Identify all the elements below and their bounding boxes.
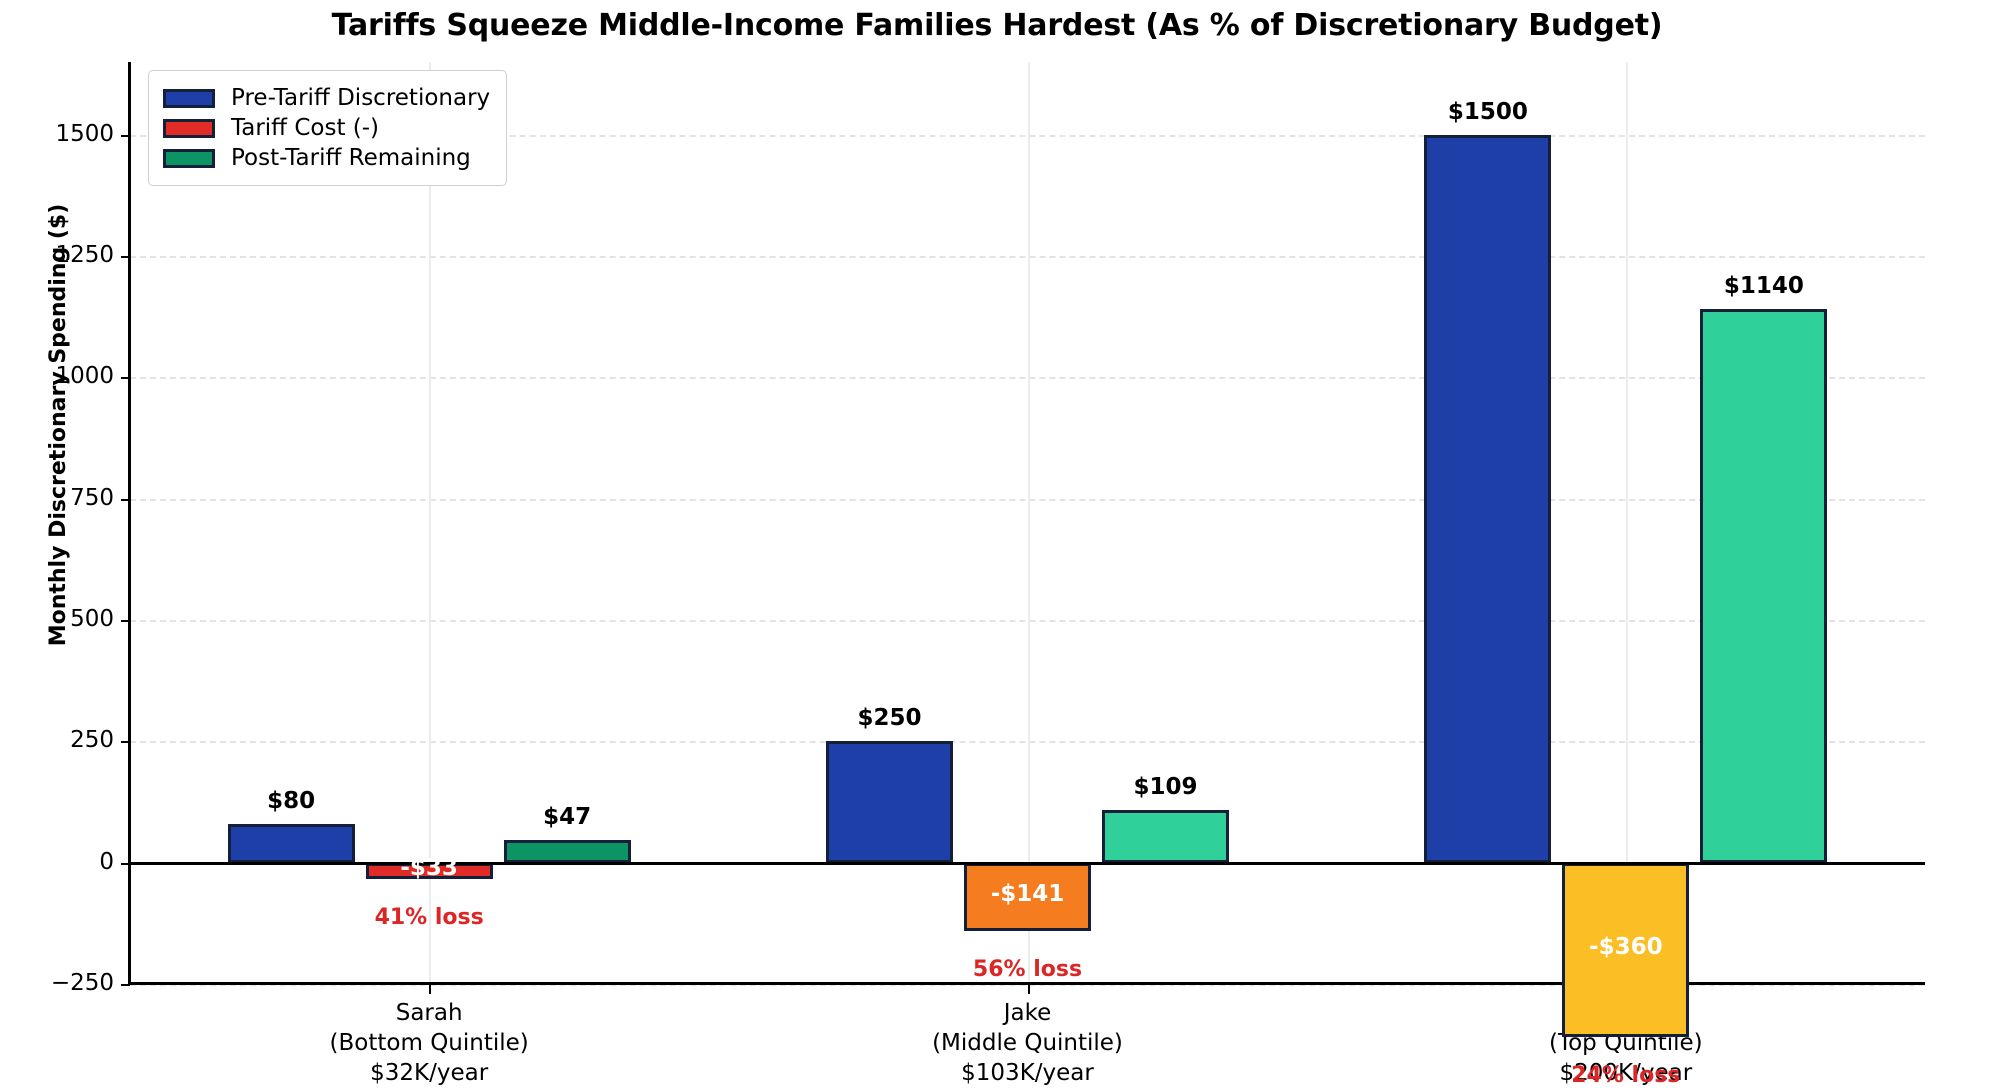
bar-post-tariff-remaining-sarah[interactable] (504, 840, 631, 863)
x-tick-mark (1028, 984, 1030, 994)
legend-label-pre-tariff: Pre-Tariff Discretionary (231, 85, 490, 111)
bar-value-label: -$141 (964, 881, 1091, 907)
y-tick-label: 250 (4, 727, 114, 753)
x-tick-label-jake: Jake (Middle Quintile) $103K/year (828, 998, 1228, 1088)
y-axis-label: Monthly Discretionary Spending ($) (46, 75, 71, 775)
chart-title: Tariffs Squeeze Middle-Income Families H… (0, 8, 1994, 43)
bar-value-label: $250 (826, 705, 953, 731)
bar-post-tariff-remaining-jake[interactable] (1102, 810, 1229, 863)
y-tick-label: 500 (4, 606, 114, 632)
bar-value-label: $109 (1102, 774, 1229, 800)
legend-item-post-tariff: Post-Tariff Remaining (163, 143, 490, 173)
y-tick-label: 0 (4, 849, 114, 875)
legend-swatch-post-tariff (163, 149, 215, 168)
bar-value-label: -$360 (1562, 934, 1689, 960)
loss-annotation: 41% loss (366, 905, 493, 930)
legend-label-post-tariff: Post-Tariff Remaining (231, 145, 471, 171)
y-axis-spine (128, 62, 131, 984)
y-tick-label: 1250 (4, 242, 114, 268)
bar-pre-tariff-discretionary-michelle[interactable] (1424, 135, 1551, 863)
legend-swatch-tariff-cost (163, 119, 215, 138)
bar-value-label: $1140 (1700, 273, 1827, 299)
legend-label-tariff-cost: Tariff Cost (-) (231, 115, 379, 141)
bar-pre-tariff-discretionary-sarah[interactable] (228, 824, 355, 863)
x-tick-mark (429, 984, 431, 994)
y-tick-label: 750 (4, 485, 114, 511)
chart-figure: Tariffs Squeeze Middle-Income Families H… (0, 0, 1994, 1090)
bar-pre-tariff-discretionary-jake[interactable] (826, 741, 953, 862)
legend-item-pre-tariff: Pre-Tariff Discretionary (163, 83, 490, 113)
y-tick-label: 1500 (4, 121, 114, 147)
bar-post-tariff-remaining-michelle[interactable] (1700, 309, 1827, 862)
legend-swatch-pre-tariff (163, 89, 215, 108)
vertical-gridline (1626, 62, 1628, 984)
vertical-gridline (1028, 62, 1030, 984)
y-tick-label: 1000 (4, 363, 114, 389)
loss-annotation: 24% loss (1562, 1063, 1689, 1088)
legend-item-tariff-cost: Tariff Cost (-) (163, 113, 490, 143)
x-tick-label-sarah: Sarah (Bottom Quintile) $32K/year (229, 998, 629, 1088)
bar-value-label: -$33 (366, 855, 493, 881)
plot-area: −2500250500750100012501500 $80-$33$4741%… (130, 62, 1925, 984)
y-tick-label: −250 (4, 970, 114, 996)
bar-value-label: $47 (504, 804, 631, 830)
bar-value-label: $1500 (1424, 99, 1551, 125)
chart-legend: Pre-Tariff Discretionary Tariff Cost (-)… (148, 70, 507, 186)
loss-annotation: 56% loss (964, 957, 1091, 982)
bar-value-label: $80 (228, 788, 355, 814)
vertical-gridline (429, 62, 431, 984)
